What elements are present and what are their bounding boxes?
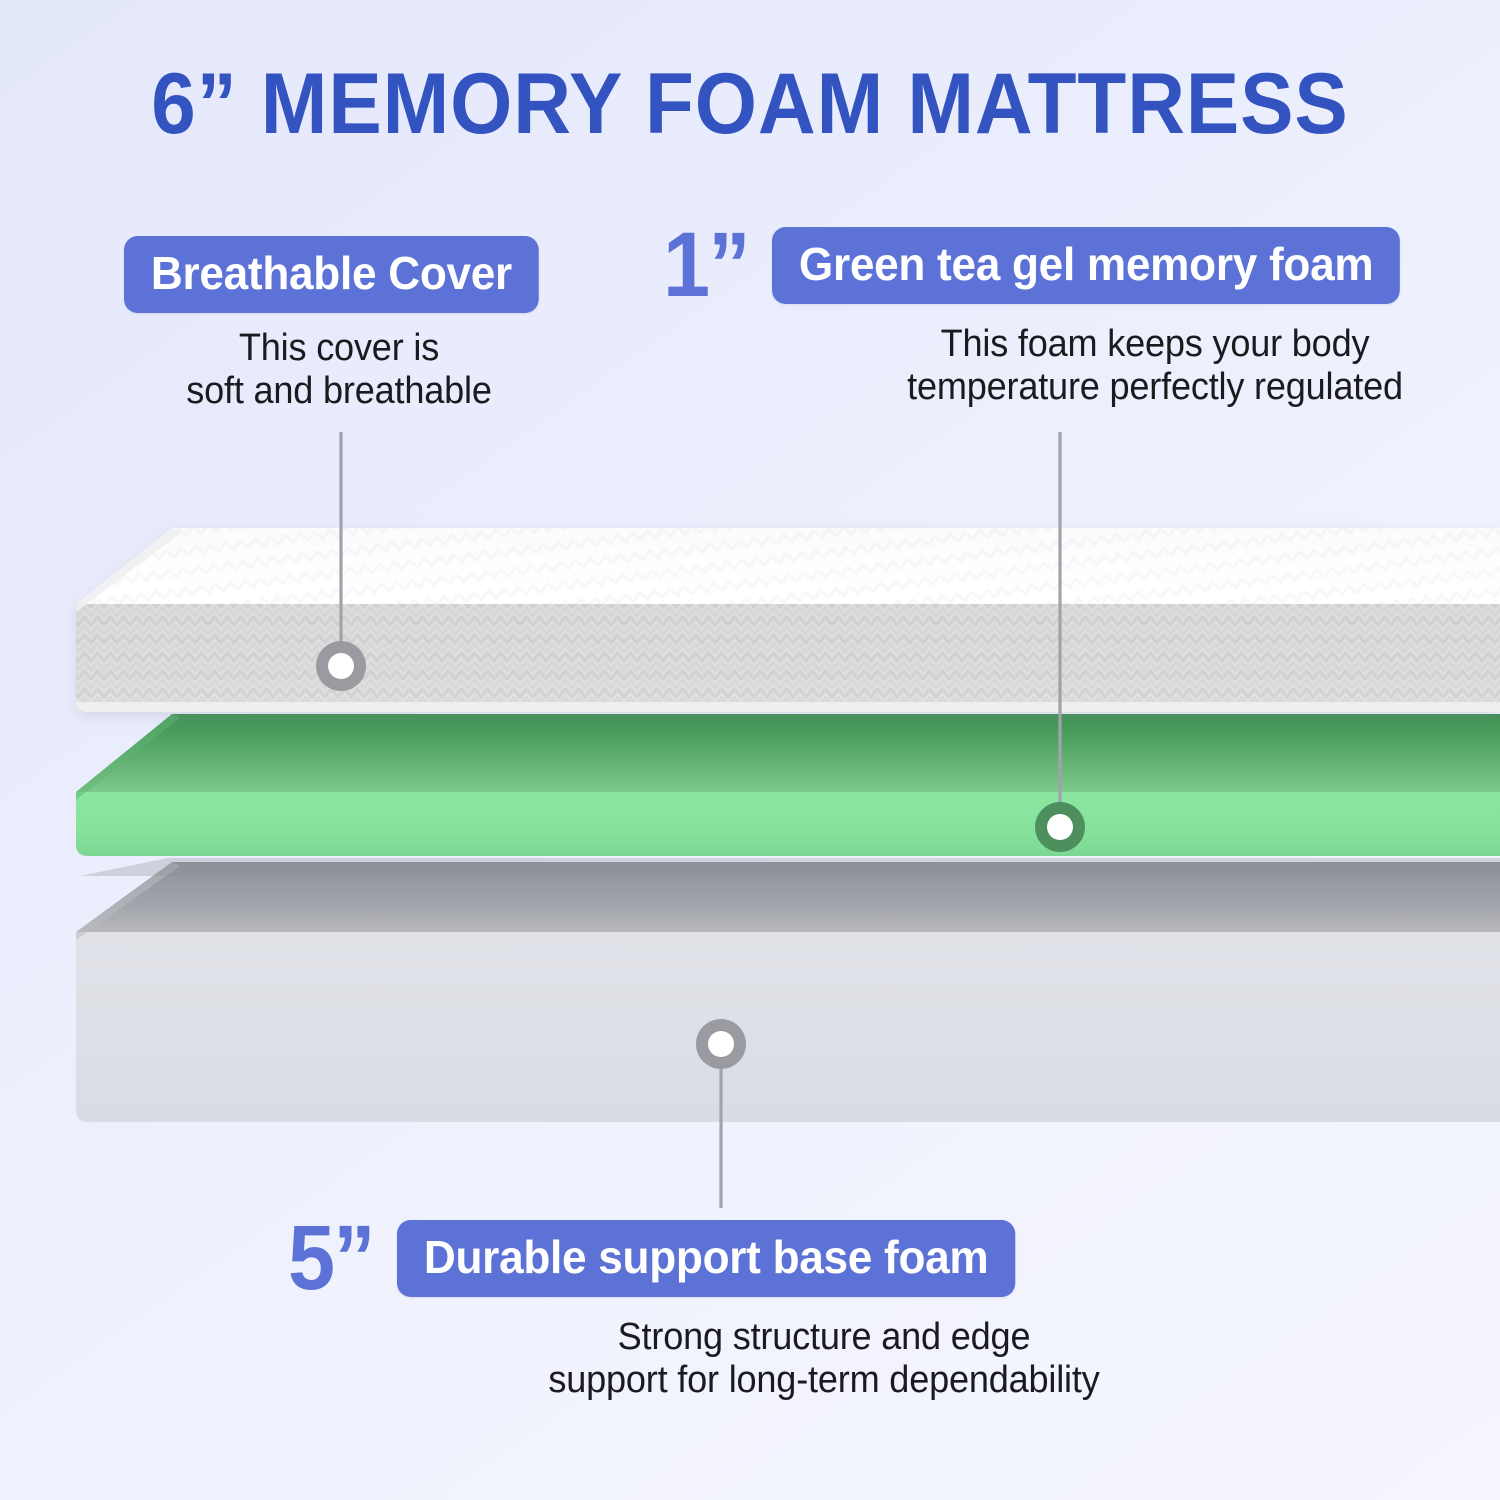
breathable-cover-layer: [76, 528, 1500, 712]
badge-row-gel: 1” Green tea gel memory foam: [663, 222, 1500, 309]
cover-layer-marker: [316, 641, 366, 691]
callout-green-tea-gel: 1” Green tea gel memory foam This foam k…: [663, 222, 1500, 408]
description-line-1: This cover is: [135, 327, 544, 370]
durable-support-base-foam-layer: [76, 862, 1500, 1122]
badge-durable-support-base-foam[interactable]: Durable support base foam: [397, 1220, 1015, 1297]
base-layer-marker: [696, 1019, 746, 1069]
description-line-2: temperature perfectly regulated: [794, 366, 1500, 409]
gel-layer-marker: [1035, 802, 1085, 852]
description-line-1: This foam keeps your body: [794, 323, 1500, 366]
description-line-2: soft and breathable: [135, 370, 544, 413]
description-line-2: support for long-term dependability: [454, 1359, 1195, 1402]
measure-base-thickness: 5”: [288, 1215, 374, 1302]
badge-row-cover: Breathable Cover: [124, 236, 556, 313]
measure-gel-thickness: 1”: [663, 222, 749, 309]
description-green-tea-gel: This foam keeps your body temperature pe…: [794, 323, 1500, 408]
description-durable-support-base: Strong structure and edge support for lo…: [454, 1316, 1195, 1401]
infographic-canvas: 6” MEMORY FOAM MATTRESS: [0, 0, 1500, 1500]
page-title: 6” MEMORY FOAM MATTRESS: [53, 55, 1448, 154]
green-tea-gel-memory-foam-layer: [76, 714, 1500, 876]
callout-durable-support-base: 5” Durable support base foam Strong stru…: [288, 1215, 1214, 1401]
badge-green-tea-gel-memory-foam[interactable]: Green tea gel memory foam: [772, 227, 1400, 304]
badge-row-base: 5” Durable support base foam: [288, 1215, 1214, 1302]
description-breathable-cover: This cover is soft and breathable: [135, 327, 544, 412]
badge-breathable-cover[interactable]: Breathable Cover: [124, 236, 539, 313]
callout-breathable-cover: Breathable Cover This cover is soft and …: [124, 236, 556, 412]
description-line-1: Strong structure and edge: [454, 1316, 1195, 1359]
